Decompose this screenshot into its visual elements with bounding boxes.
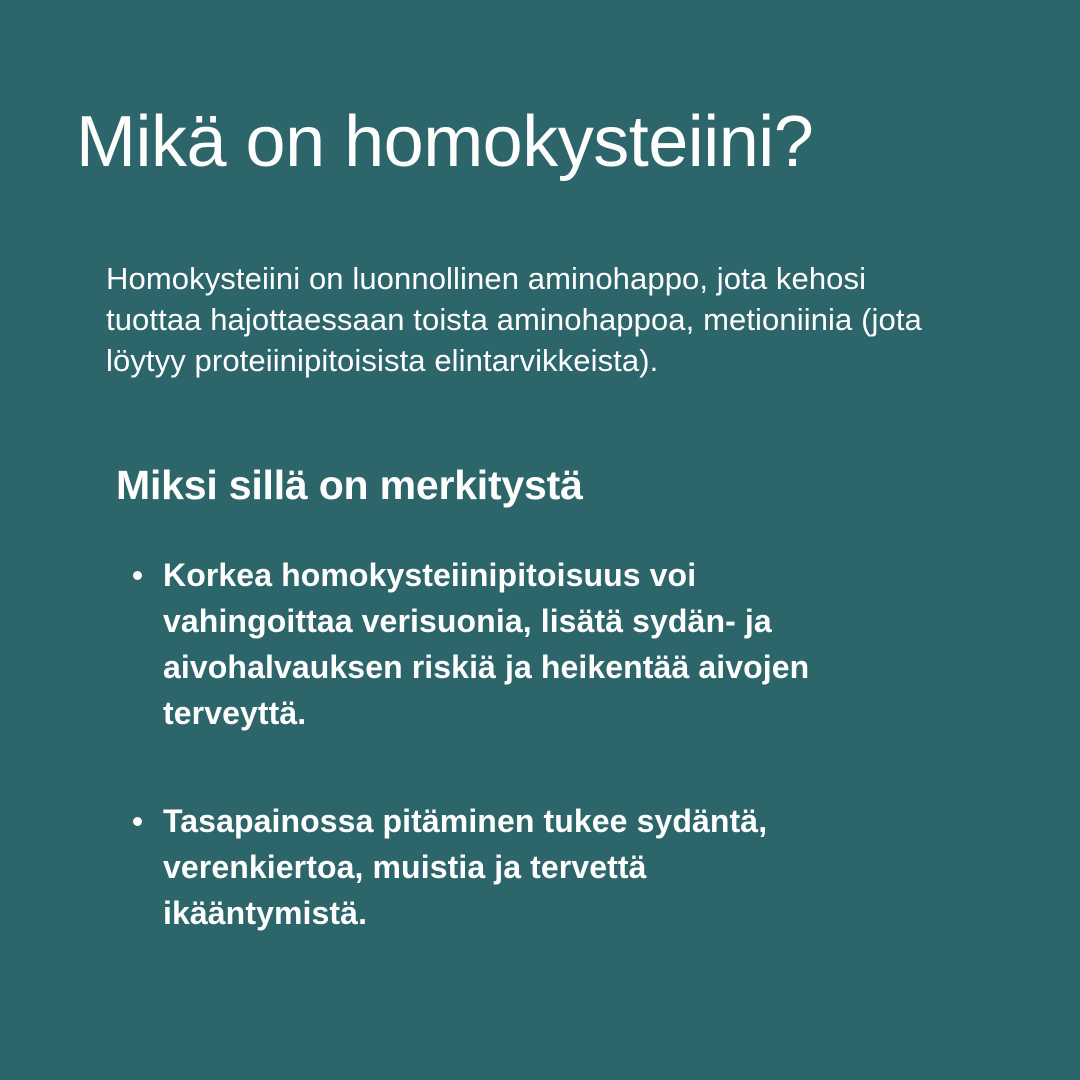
list-item: Korkea homokysteiinipitoisuus voi vahing… (130, 552, 960, 736)
intro-paragraph: Homokysteiini on luonnollinen aminohappo… (106, 258, 966, 381)
bullet-dot-icon (133, 571, 142, 580)
infographic-card: Mikä on homokysteiini? Homokysteiini on … (0, 0, 1080, 1080)
bullet-dot-icon (133, 817, 142, 826)
list-item-text: Tasapainossa pitäminen tukee sydäntä, ve… (163, 798, 853, 936)
benefits-bullet-list: Korkea homokysteiinipitoisuus voi vahing… (130, 552, 960, 936)
list-item: Tasapainossa pitäminen tukee sydäntä, ve… (130, 798, 960, 936)
section-subheading: Miksi sillä on merkitystä (116, 462, 583, 509)
page-title: Mikä on homokysteiini? (76, 104, 1016, 180)
list-item-text: Korkea homokysteiinipitoisuus voi vahing… (163, 552, 893, 736)
